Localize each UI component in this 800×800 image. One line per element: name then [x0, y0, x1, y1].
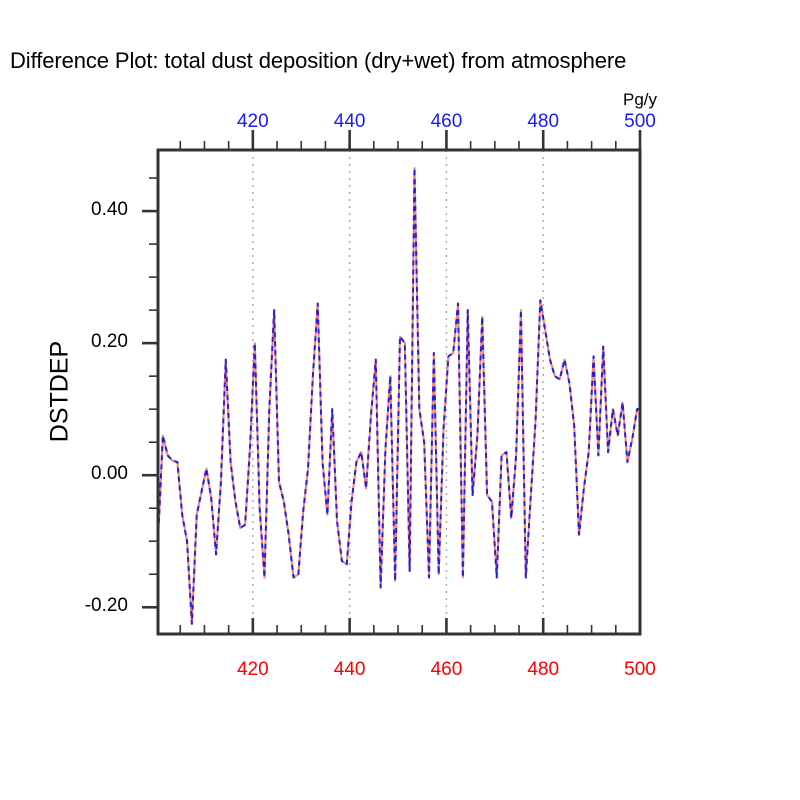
chart-figure: Difference Plot: total dust deposition (… [0, 0, 800, 800]
bottom-axis-ticks [180, 618, 640, 634]
top-axis-tick-label: 480 [493, 111, 593, 133]
y-axis-tick-label: 0.20 [8, 331, 128, 353]
y-axis-tick-label: 0.40 [8, 199, 128, 221]
bottom-axis-tick-label: 480 [493, 659, 593, 681]
bottom-axis-tick-label: 440 [300, 659, 400, 681]
series-line-dashed [158, 168, 640, 624]
chart-title: Difference Plot: total dust deposition (… [10, 48, 626, 74]
top-axis-tick-label: 500 [590, 111, 690, 133]
bottom-axis-tick-label: 500 [590, 659, 690, 681]
data-series-group [158, 168, 640, 624]
top-axis-tick-label: 420 [203, 111, 303, 133]
top-axis-tick-label: 440 [300, 111, 400, 133]
top-axis-ticks [180, 130, 640, 150]
y-axis-tick-label: 0.00 [8, 463, 128, 485]
top-axis-tick-label: 460 [396, 111, 496, 133]
y-axis-label: DSTDEP [46, 292, 75, 492]
y-axis-tick-label: -0.20 [8, 595, 128, 617]
y-axis-ticks [142, 178, 158, 607]
top-axis-unit-label: Pg/y [592, 90, 688, 110]
bottom-axis-tick-label: 420 [203, 659, 303, 681]
bottom-axis-tick-label: 460 [396, 659, 496, 681]
